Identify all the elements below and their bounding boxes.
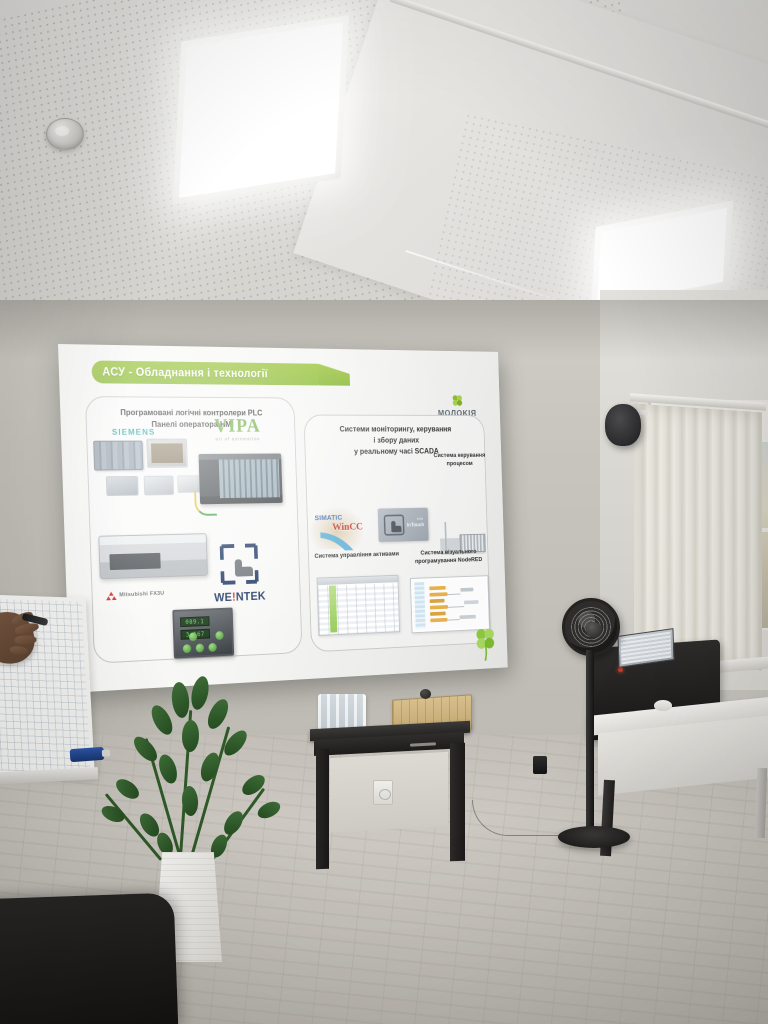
power-outlet[interactable] (373, 780, 393, 805)
plant-leaf (170, 681, 191, 719)
pedestal-fan[interactable] (562, 598, 624, 848)
asset-management-screenshot (317, 575, 400, 636)
power-meter-image: 089.1 3.167 (172, 607, 234, 658)
intouch-hand-icon (383, 514, 405, 539)
nodered-node (460, 588, 473, 592)
siemens-plc-image (93, 441, 143, 471)
computer-mouse[interactable] (654, 700, 672, 711)
meter-button-3 (208, 643, 216, 652)
plant-leaf (239, 771, 269, 799)
mitsubishi-plc-image (98, 533, 208, 579)
nodered-node (429, 586, 445, 590)
power-plug (533, 756, 547, 774)
table-highlight-column (329, 585, 337, 632)
nodered-node (430, 605, 448, 609)
plant-leaf (255, 798, 283, 821)
intouch-logo-image: Avita InTouch (378, 508, 429, 542)
plant-leaf (99, 803, 127, 826)
simatic-wincc-logo: SIMATIC WinCC (315, 513, 343, 522)
plant-leaf (181, 720, 199, 753)
slide-title-bar-tail (318, 364, 350, 386)
smoke-detector-1 (46, 118, 84, 150)
desk-leg-right (755, 768, 767, 838)
nodered-palette (414, 582, 425, 628)
nodered-node (429, 592, 447, 596)
weintek-logo-text: WE!NTEK (214, 589, 266, 604)
room-photo-scene: АСУ - Обладнання і технології MOЛOKIЯ Пр… (0, 0, 768, 1024)
hmi-small-image-2 (144, 476, 174, 496)
nodered-node (464, 600, 479, 604)
projection-screen: АСУ - Обладнання і технології MOЛOKIЯ Пр… (58, 344, 508, 693)
wall-speaker (605, 404, 641, 446)
sofa (0, 893, 178, 1024)
slide-surface: АСУ - Обладнання і технології MOЛOKIЯ Пр… (58, 344, 508, 693)
nodered-wire (448, 594, 461, 595)
siemens-hmi-panel-image (146, 439, 188, 468)
nodered-node (430, 599, 445, 603)
plant-leaf (189, 675, 212, 712)
weintek-logo: WE!NTEK (214, 589, 266, 604)
finger (9, 646, 28, 656)
vipa-logo: VIPA art of automation (199, 417, 275, 441)
nodered-canvas (413, 578, 488, 630)
label-nodered: Система візуального програмування NodeRE… (404, 548, 492, 567)
weintek-hand-icon (218, 541, 261, 586)
intouch-vendor: Avita (417, 517, 423, 521)
slide-title: АСУ - Обладнання і технології (92, 366, 268, 380)
meter-display-line1: 089.1 (180, 616, 210, 627)
slide-clover-decoration (471, 625, 499, 657)
console-table-leg-right (450, 743, 465, 862)
slide-title-bar: АСУ - Обладнання і технології (91, 360, 320, 385)
label-process-control: Система керування процесом (431, 452, 488, 469)
fan-base (558, 826, 630, 848)
nodered-node (460, 615, 476, 619)
clover-icon (426, 393, 487, 409)
mitsubishi-logo: Mitsubishi FX3U (106, 589, 165, 601)
fan-head (562, 598, 620, 656)
mitsubishi-logo-text: Mitsubishi FX3U (119, 591, 164, 599)
plant-leaf (220, 808, 246, 838)
slide-panel-plc-hmi: Програмовані логічні контролери PLC Пане… (85, 396, 303, 664)
ceiling-light-1 (179, 22, 343, 198)
right-panel-heading-1: Системи моніторингу, керування (305, 424, 484, 435)
plant-leaf (147, 702, 176, 738)
vipa-logo-text: VIPA (199, 417, 275, 435)
vipa-tagline: art of automation (200, 436, 276, 441)
fan-pole (586, 650, 594, 838)
meter-button-2 (196, 643, 205, 652)
slide-panel-scada: Системи моніторингу, керування і збору д… (303, 415, 491, 653)
intouch-logo-text: InTouch (407, 522, 424, 528)
mitsubishi-mark-icon (106, 591, 117, 601)
nodered-node (430, 618, 447, 622)
right-panel-heading-2: і збору даних (305, 435, 484, 446)
fan-hub (586, 622, 602, 638)
meter-button-1 (183, 644, 192, 653)
siemens-logo: SIEMENS (112, 427, 156, 437)
meter-button-5 (215, 631, 223, 640)
nodered-node (430, 612, 446, 616)
vipa-wiring (194, 491, 217, 516)
nodered-wire (448, 606, 464, 608)
hmi-small-image-1 (106, 476, 139, 496)
label-asset-management: Система управління активами (312, 551, 401, 562)
crate-knob (420, 689, 431, 699)
finger (14, 635, 36, 645)
wincc-swoosh-icon (318, 528, 358, 555)
plant-leaf (113, 775, 143, 802)
nodered-wire (447, 619, 460, 621)
ceiling (0, 0, 768, 330)
console-table-leg-left (316, 749, 329, 869)
